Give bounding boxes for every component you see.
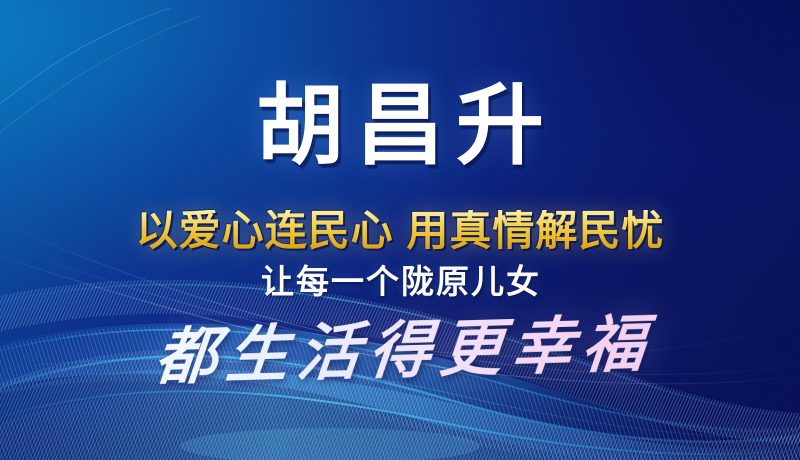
main-title: 胡昌升 xyxy=(0,82,800,170)
slogan-white: 让每一个陇原儿女 xyxy=(0,265,800,298)
banner-graphic: 胡昌升 以爱心连民心 用真情解民忧 让每一个陇原儿女 都生活得更幸福 xyxy=(0,0,800,460)
slogan-gold: 以爱心连民心 用真情解民忧 xyxy=(0,210,800,252)
slogan-calligraphy: 都生活得更幸福 xyxy=(0,307,800,396)
banner-text-content: 胡昌升 以爱心连民心 用真情解民忧 让每一个陇原儿女 都生活得更幸福 xyxy=(0,0,800,460)
